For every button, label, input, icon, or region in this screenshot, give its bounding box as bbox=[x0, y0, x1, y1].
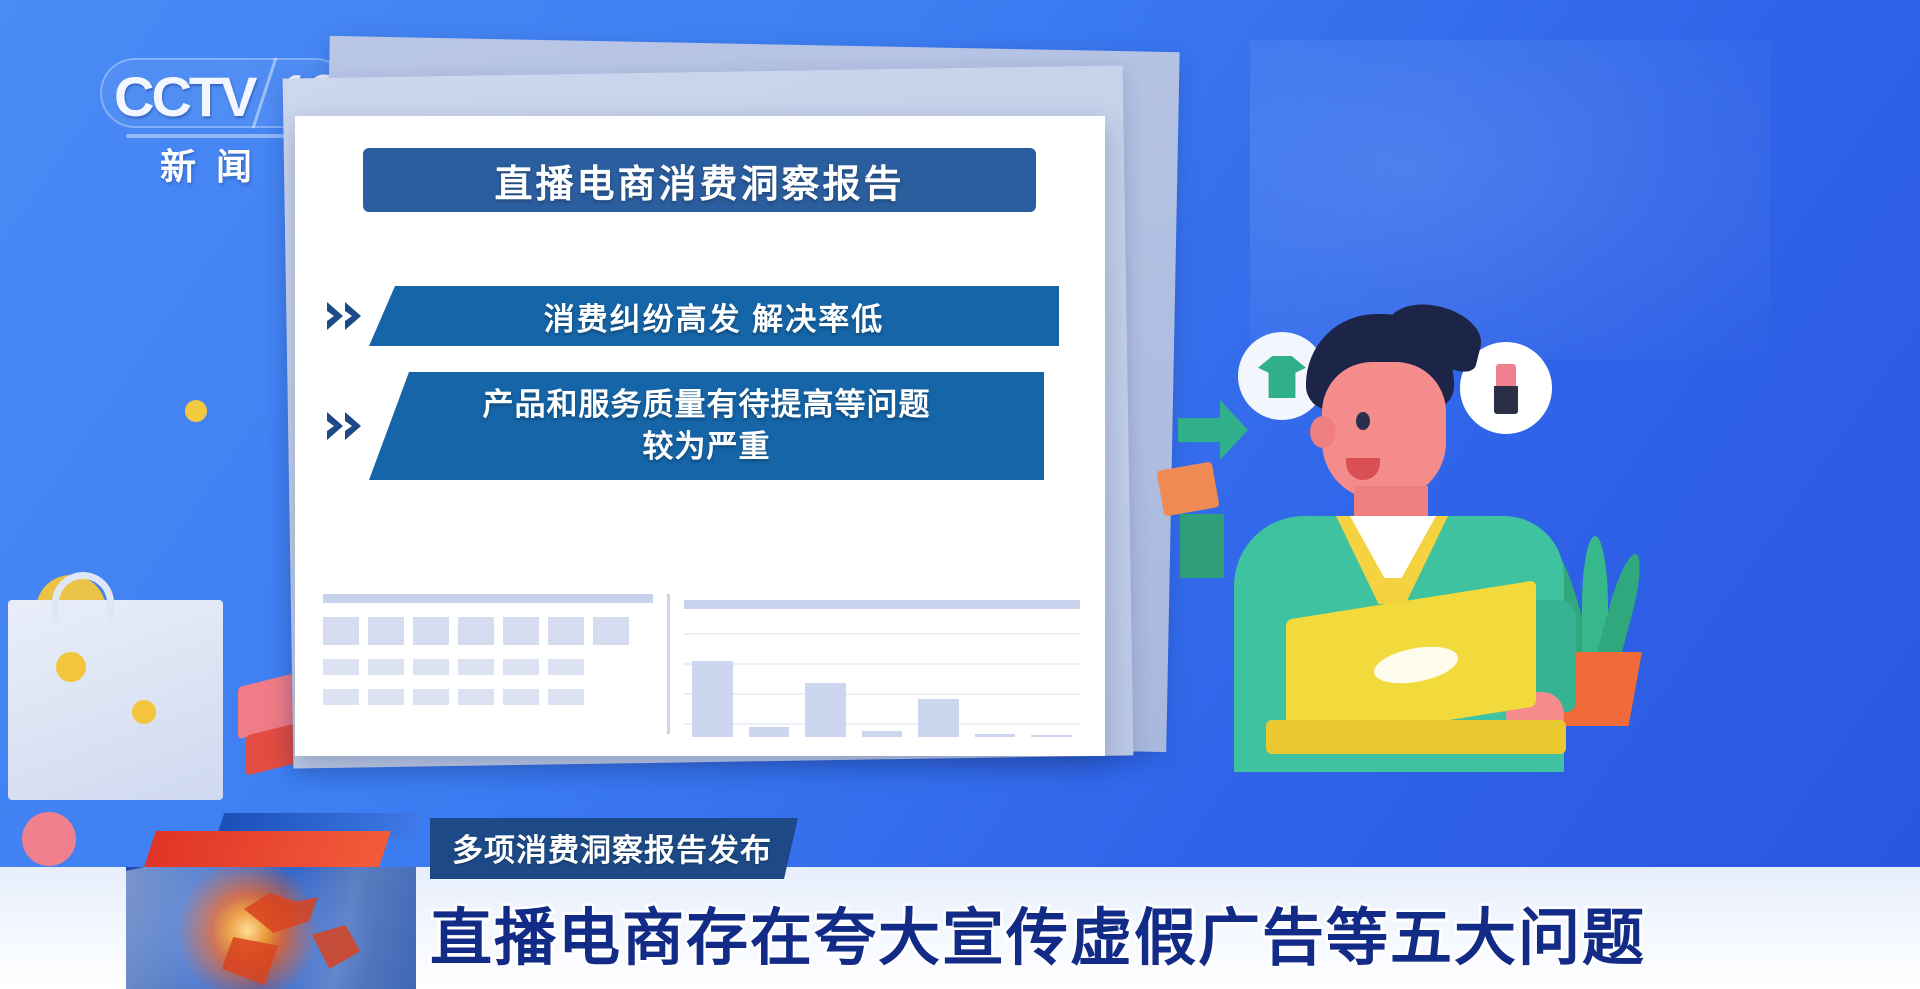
table-cell bbox=[368, 689, 404, 705]
chart-plot-area bbox=[684, 625, 1080, 737]
table-cell bbox=[413, 659, 449, 675]
lipstick-icon-base bbox=[1494, 386, 1518, 414]
table-cell bbox=[368, 617, 404, 645]
chart-bar bbox=[918, 699, 959, 737]
logo-cctv-text: CCTV bbox=[114, 64, 254, 129]
chyron-globe-graphic bbox=[126, 867, 416, 989]
report-bullet-2: 产品和服务质量有待提高等问题 较为严重 bbox=[323, 372, 1044, 480]
table-cell bbox=[413, 689, 449, 705]
table-cell bbox=[548, 659, 584, 675]
broadcast-screen: CCTV 13 新闻 直播电商消费洞察报告 消费纠纷高发 解决率低 bbox=[0, 0, 1920, 989]
double-chevron-icon bbox=[323, 406, 369, 446]
table-row bbox=[323, 659, 653, 675]
decor-bag-dot-1 bbox=[56, 652, 86, 682]
table-cell bbox=[323, 659, 359, 675]
table-cell bbox=[593, 617, 629, 645]
report-bullet-2-bar: 产品和服务质量有待提高等问题 较为严重 bbox=[369, 372, 1044, 480]
table-cell bbox=[548, 689, 584, 705]
table-cell bbox=[458, 617, 494, 645]
report-bullet-1: 消费纠纷高发 解决率低 bbox=[323, 286, 1059, 346]
placeholder-bar-chart bbox=[684, 594, 1080, 734]
lipstick-icon bbox=[1496, 364, 1516, 386]
chart-bar bbox=[749, 727, 790, 737]
decor-orange-square bbox=[1156, 461, 1219, 516]
person-face bbox=[1322, 362, 1446, 500]
table-cell bbox=[458, 659, 494, 675]
chyron-kicker: 多项消费洞察报告发布 bbox=[430, 818, 798, 879]
report-sheet-front: 直播电商消费洞察报告 消费纠纷高发 解决率低 bbox=[295, 116, 1105, 756]
chart-header-bar bbox=[684, 600, 1080, 609]
chyron-headline-text: 直播电商存在夸大宣传虚假广告等五大问题 bbox=[430, 904, 1646, 973]
double-chevron-icon bbox=[323, 296, 369, 336]
chart-bar bbox=[692, 661, 733, 737]
table-cell bbox=[413, 617, 449, 645]
report-title-bar: 直播电商消费洞察报告 bbox=[363, 148, 1036, 212]
chyron-kicker-text: 多项消费洞察报告发布 bbox=[452, 833, 772, 868]
placeholder-divider bbox=[667, 594, 670, 734]
chart-bar bbox=[1031, 735, 1072, 737]
table-cell bbox=[368, 659, 404, 675]
person-eye bbox=[1356, 412, 1370, 430]
chart-bar bbox=[805, 683, 846, 737]
chart-bars bbox=[692, 625, 1072, 737]
placeholder-table bbox=[323, 594, 653, 734]
table-cell bbox=[503, 689, 539, 705]
placeholder-table-header bbox=[323, 594, 653, 603]
person-with-laptop-illustration bbox=[1150, 300, 1920, 770]
report-bullet-2-line2: 较为严重 bbox=[643, 426, 771, 468]
chyron-headline: 直播电商存在夸大宣传虚假广告等五大问题 bbox=[430, 887, 1646, 977]
table-row bbox=[323, 617, 653, 645]
table-cell bbox=[323, 617, 359, 645]
table-cell bbox=[503, 659, 539, 675]
table-cell bbox=[503, 617, 539, 645]
decor-dot-yellow-small bbox=[185, 400, 207, 422]
chyron-red-accent-bar bbox=[144, 831, 391, 867]
report-title-text: 直播电商消费洞察报告 bbox=[494, 153, 904, 208]
person-ear bbox=[1310, 416, 1336, 448]
report-bullet-1-bar: 消费纠纷高发 解决率低 bbox=[369, 286, 1059, 346]
logo-subtitle: 新闻 bbox=[160, 138, 272, 190]
chart-bar bbox=[975, 734, 1016, 737]
decor-green-arrow bbox=[1178, 400, 1248, 460]
chart-bar bbox=[862, 731, 903, 737]
decor-shopping-bag bbox=[8, 600, 223, 800]
table-cell bbox=[548, 617, 584, 645]
report-bullet-1-text: 消费纠纷高发 解决率低 bbox=[544, 294, 885, 339]
report-placeholder-graphics bbox=[323, 594, 1080, 734]
report-bullet-2-line1: 产品和服务质量有待提高等问题 bbox=[483, 384, 931, 426]
decor-green-block bbox=[1180, 514, 1224, 578]
laptop-base bbox=[1266, 720, 1566, 754]
decor-bag-handle bbox=[52, 572, 114, 622]
decor-bag-dot-2 bbox=[132, 700, 156, 724]
table-cell bbox=[323, 689, 359, 705]
lower-third-chyron: 多项消费洞察报告发布 直播电商存在夸大宣传虚假广告等五大问题 bbox=[0, 819, 1920, 989]
table-cell bbox=[458, 689, 494, 705]
table-row bbox=[323, 689, 653, 705]
